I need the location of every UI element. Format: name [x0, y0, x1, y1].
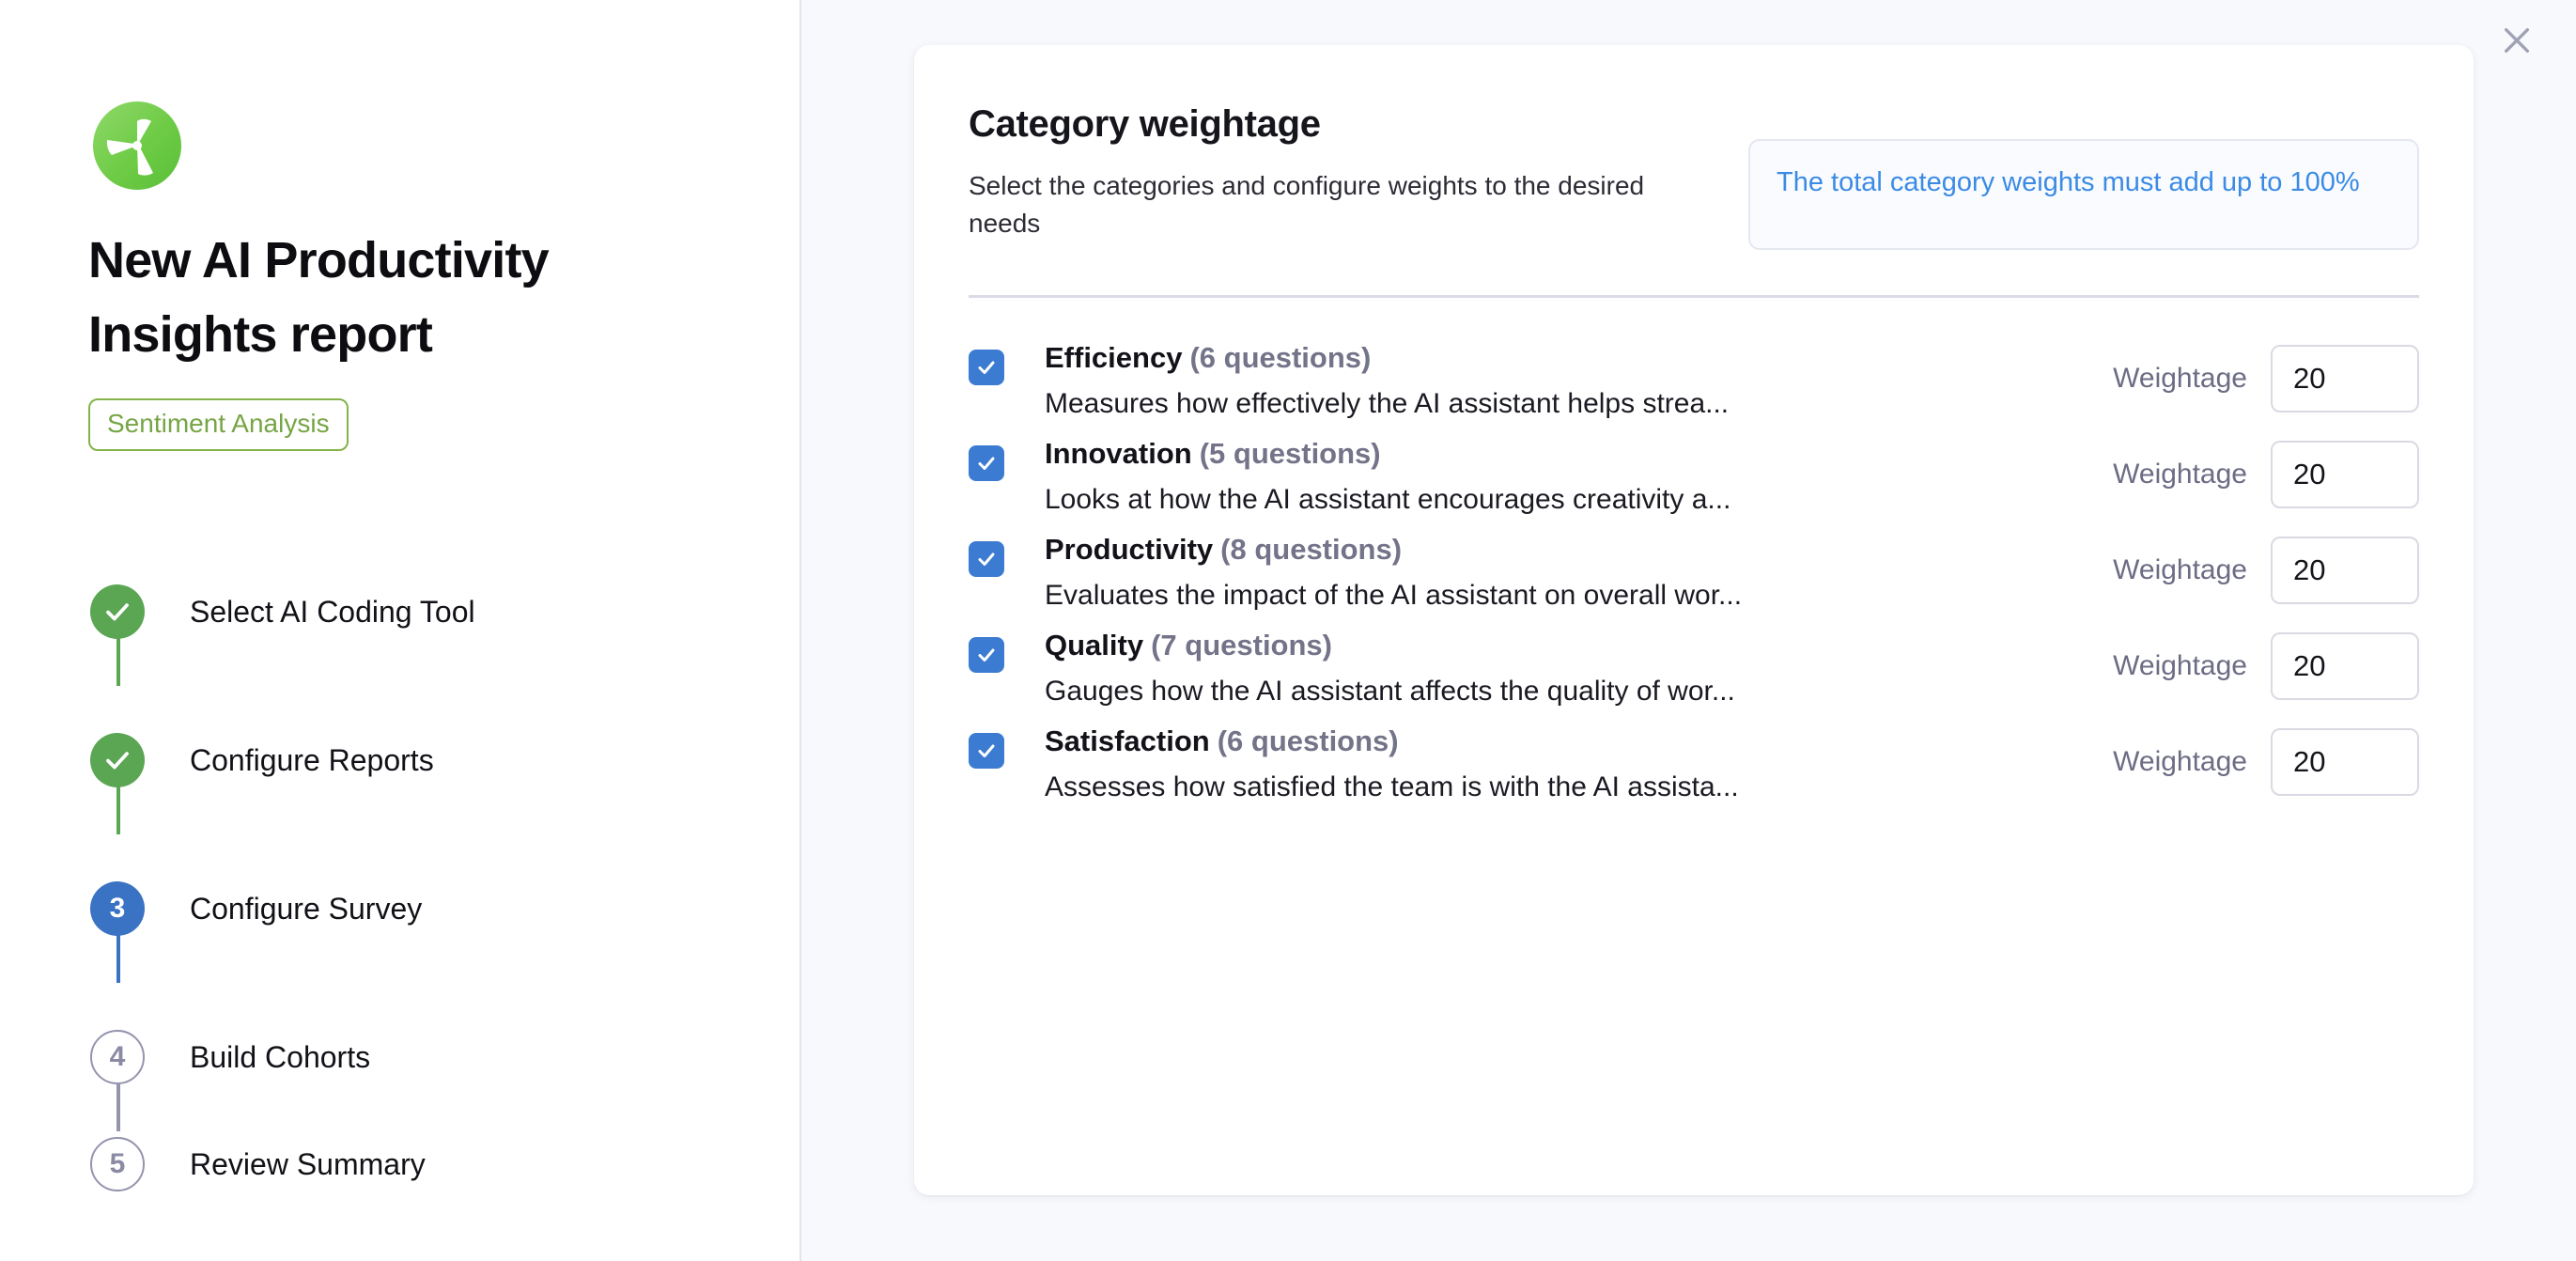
- category-name: Innovation: [1045, 437, 1192, 470]
- info-note-box: The total category weights must add up t…: [1748, 139, 2419, 250]
- category-checkbox-quality[interactable]: [969, 637, 1004, 673]
- panel-subtitle: Select the categories and configure weig…: [969, 167, 1683, 242]
- propeller-logo-icon: [90, 99, 184, 193]
- header-divider: [969, 295, 2419, 298]
- sidebar: New AI Productivity Insights report Sent…: [0, 0, 801, 1261]
- step-marker-1: [90, 584, 145, 639]
- weightage-label: Weightage: [2113, 650, 2247, 682]
- app-root: New AI Productivity Insights report Sent…: [0, 0, 2576, 1261]
- weightage-label: Weightage: [2113, 363, 2247, 395]
- sidebar-item-review-summary[interactable]: 5 Review Summary: [90, 1131, 748, 1197]
- weightage-input-efficiency[interactable]: [2271, 345, 2419, 413]
- category-list: Efficiency(6 questions) Measures how eff…: [969, 339, 2419, 818]
- category-description: Assesses how satisfied the team is with …: [1045, 770, 2094, 805]
- weightage-label: Weightage: [2113, 554, 2247, 586]
- category-question-count: (8 questions): [1220, 533, 1402, 566]
- list-item: Efficiency(6 questions) Measures how eff…: [969, 339, 2419, 435]
- progress-stepper: Select AI Coding Tool Configure Reports …: [90, 537, 748, 1197]
- category-weightage-panel: Category weightage Select the categories…: [914, 45, 2474, 1195]
- sidebar-item-select-ai-coding-tool[interactable]: Select AI Coding Tool: [90, 537, 748, 686]
- sidebar-item-configure-survey[interactable]: 3 Configure Survey: [90, 834, 748, 983]
- step-marker-2: [90, 733, 145, 787]
- category-question-count: (6 questions): [1189, 341, 1371, 374]
- category-description: Evaluates the impact of the AI assistant…: [1045, 578, 2094, 614]
- category-name: Satisfaction: [1045, 724, 1210, 757]
- step-label-2: Configure Reports: [190, 742, 434, 778]
- weightage-input-innovation[interactable]: [2271, 441, 2419, 508]
- badge-row: Sentiment Analysis: [88, 398, 349, 451]
- category-name: Productivity: [1045, 533, 1213, 566]
- step-label-3: Configure Survey: [190, 891, 422, 926]
- panel-header: Category weightage Select the categories…: [969, 100, 2419, 250]
- step-label-4: Build Cohorts: [190, 1039, 370, 1075]
- step-label-5: Review Summary: [190, 1146, 426, 1182]
- category-question-count: (6 questions): [1218, 724, 1399, 757]
- sidebar-item-configure-reports[interactable]: Configure Reports: [90, 686, 748, 834]
- category-checkbox-innovation[interactable]: [969, 445, 1004, 481]
- category-checkbox-satisfaction[interactable]: [969, 733, 1004, 769]
- weightage-input-satisfaction[interactable]: [2271, 728, 2419, 796]
- step-marker-4: 4: [90, 1030, 145, 1084]
- category-name: Quality: [1045, 629, 1143, 662]
- category-checkbox-efficiency[interactable]: [969, 350, 1004, 385]
- category-description: Gauges how the AI assistant affects the …: [1045, 674, 2094, 709]
- step-marker-3: 3: [90, 881, 145, 936]
- category-question-count: (7 questions): [1151, 629, 1332, 662]
- list-item: Innovation(5 questions) Looks at how the…: [969, 435, 2419, 531]
- weightage-label: Weightage: [2113, 746, 2247, 778]
- category-question-count: (5 questions): [1200, 437, 1381, 470]
- main-content: Category weightage Select the categories…: [801, 0, 2576, 1261]
- info-note-text: The total category weights must add up t…: [1777, 163, 2391, 201]
- panel-title: Category weightage: [969, 101, 1720, 147]
- list-item: Productivity(8 questions) Evaluates the …: [969, 531, 2419, 627]
- list-item: Quality(7 questions) Gauges how the AI a…: [969, 627, 2419, 723]
- list-item: Satisfaction(6 questions) Assesses how s…: [969, 723, 2419, 818]
- category-checkbox-productivity[interactable]: [969, 541, 1004, 577]
- category-description: Measures how effectively the AI assistan…: [1045, 386, 2094, 422]
- weightage-input-quality[interactable]: [2271, 632, 2419, 700]
- step-label-1: Select AI Coding Tool: [190, 594, 475, 630]
- weightage-label: Weightage: [2113, 459, 2247, 490]
- category-description: Looks at how the AI assistant encourages…: [1045, 482, 2094, 518]
- page-title: New AI Productivity Insights report: [88, 224, 690, 372]
- step-marker-5: 5: [90, 1137, 145, 1191]
- close-icon[interactable]: [2488, 11, 2546, 70]
- status-badge: Sentiment Analysis: [88, 398, 349, 451]
- category-name: Efficiency: [1045, 341, 1182, 374]
- sidebar-item-build-cohorts[interactable]: 4 Build Cohorts: [90, 983, 748, 1131]
- weightage-input-productivity[interactable]: [2271, 537, 2419, 604]
